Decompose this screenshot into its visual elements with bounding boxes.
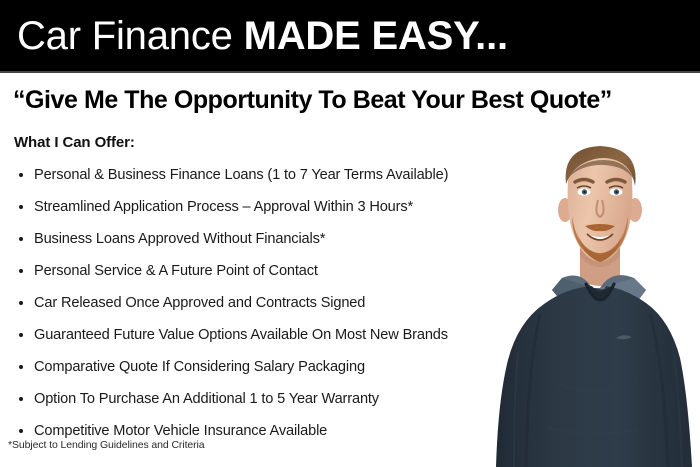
bullet-icon — [19, 333, 23, 337]
banner-bottom-edge — [0, 71, 700, 73]
bullet-icon — [19, 429, 23, 433]
list-item-label: Personal Service & A Future Point of Con… — [34, 263, 318, 279]
list-item-label: Competitive Motor Vehicle Insurance Avai… — [34, 423, 327, 439]
list-item-label: Guaranteed Future Value Options Availabl… — [34, 327, 448, 343]
list-item: Comparative Quote If Considering Salary … — [14, 351, 514, 383]
bullet-icon — [19, 365, 23, 369]
list-item: Streamlined Application Process – Approv… — [14, 191, 514, 223]
list-item-label: Business Loans Approved Without Financia… — [34, 231, 325, 247]
list-item: Personal & Business Finance Loans (1 to … — [14, 159, 514, 191]
offer-list: Personal & Business Finance Loans (1 to … — [14, 159, 514, 447]
list-item: Car Released Once Approved and Contracts… — [14, 287, 514, 319]
bullet-icon — [19, 205, 23, 209]
list-item: Option To Purchase An Additional 1 to 5 … — [14, 383, 514, 415]
bullet-icon — [19, 397, 23, 401]
banner-title-bold: MADE EASY... — [244, 14, 508, 58]
offer-heading: What I Can Offer: — [14, 133, 135, 152]
bullet-icon — [19, 237, 23, 241]
list-item-label: Comparative Quote If Considering Salary … — [34, 359, 365, 375]
list-item: Guaranteed Future Value Options Availabl… — [14, 319, 514, 351]
list-item: Personal Service & A Future Point of Con… — [14, 255, 514, 287]
car-finance-poster: Car Finance MADE EASY... — [0, 0, 700, 467]
banner-title-light: Car Finance — [17, 14, 244, 58]
footnote-disclaimer: *Subject to Lending Guidelines and Crite… — [8, 438, 205, 452]
headline-quote: “Give Me The Opportunity To Beat Your Be… — [13, 84, 612, 116]
list-item-label: Option To Purchase An Additional 1 to 5 … — [34, 391, 379, 407]
bullet-icon — [19, 173, 23, 177]
bullet-icon — [19, 301, 23, 305]
list-item-label: Car Released Once Approved and Contracts… — [34, 295, 365, 311]
banner-title: Car Finance MADE EASY... — [17, 11, 508, 61]
header-banner: Car Finance MADE EASY... — [0, 0, 700, 73]
portrait-photo — [488, 138, 700, 467]
bullet-icon — [19, 269, 23, 273]
list-item-label: Streamlined Application Process – Approv… — [34, 199, 413, 215]
list-item: Business Loans Approved Without Financia… — [14, 223, 514, 255]
list-item-label: Personal & Business Finance Loans (1 to … — [34, 167, 448, 183]
